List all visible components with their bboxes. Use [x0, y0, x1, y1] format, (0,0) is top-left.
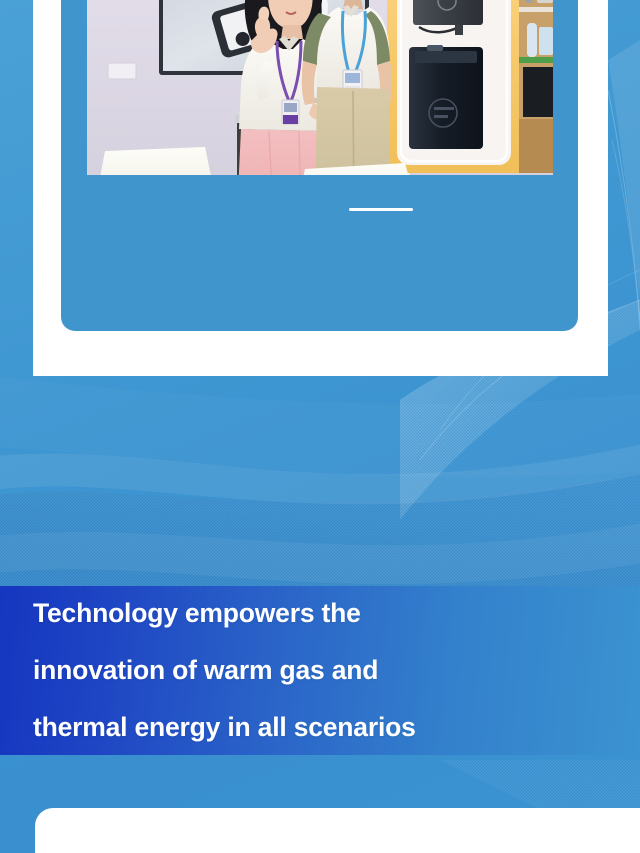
card-divider — [349, 208, 413, 211]
page-root: YOUNG 裕安 — [0, 0, 640, 853]
headline-band: Technology empowers the innovation of wa… — [0, 586, 640, 755]
exhibition-photo: YOUNG 裕安 — [87, 0, 553, 175]
next-section-card[interactable] — [35, 808, 640, 853]
exhibition-photo-card[interactable]: YOUNG 裕安 — [61, 0, 578, 331]
headline-text: Technology empowers the innovation of wa… — [0, 585, 426, 756]
